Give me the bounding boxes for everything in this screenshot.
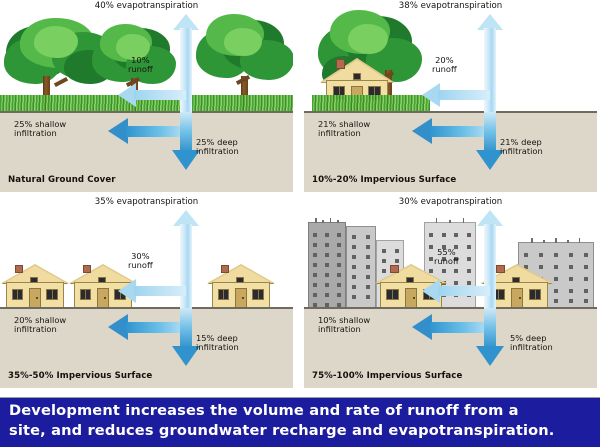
label-shallow-line2: infiltration — [14, 129, 66, 138]
caption-bar: Development increases the volume and rat… — [0, 397, 600, 447]
infographic-root: 40% evapotranspiration 10% runoff 25% sh… — [0, 0, 600, 447]
panel-caption: 10%-20% Impervious Surface — [312, 175, 456, 185]
label-runoff-line2: runoff — [434, 257, 459, 266]
house-door — [29, 288, 41, 308]
house-chimney — [83, 265, 91, 273]
label-deep-infiltration: 15% deep infiltration — [196, 334, 239, 353]
panel-impervious-10-20: 38% evapotranspiration 20% runoff 21% sh… — [304, 0, 597, 192]
label-deep-infiltration: 5% deep infiltration — [510, 334, 553, 353]
panel-natural-ground-cover: 40% evapotranspiration 10% runoff 25% sh… — [0, 0, 293, 192]
house-door — [511, 288, 523, 308]
label-evapotranspiration: 40% evapotranspiration — [95, 2, 198, 12]
runoff-arrow — [422, 83, 490, 107]
label-runoff: 10% runoff — [128, 56, 153, 75]
deep-infiltration-arrow — [476, 308, 504, 366]
label-deep-line2: infiltration — [196, 343, 239, 352]
label-shallow-line2: infiltration — [318, 325, 370, 334]
label-runoff: 30% runoff — [128, 252, 153, 271]
label-shallow-infiltration: 21% shallow infiltration — [318, 120, 370, 139]
panel-impervious-75-100: 30% evapotranspiration 55% runoff 10% sh… — [304, 196, 597, 388]
label-deep-line2: infiltration — [510, 343, 553, 352]
runoff-arrow — [118, 83, 186, 107]
label-deep-infiltration: 21% deep infiltration — [500, 138, 543, 157]
label-runoff-line2: runoff — [128, 65, 153, 74]
label-runoff-line2: runoff — [128, 261, 153, 270]
label-shallow-infiltration: 10% shallow infiltration — [318, 316, 370, 335]
label-deep-line2: infiltration — [196, 147, 239, 156]
label-evapotranspiration: 30% evapotranspiration — [399, 198, 502, 208]
label-runoff: 20% runoff — [432, 56, 457, 75]
house-chimney — [221, 265, 229, 273]
house-window-left — [80, 289, 92, 300]
panel-impervious-35-50: 35% evapotranspiration 30% runoff 20% sh… — [0, 196, 293, 388]
runoff-arrow — [422, 279, 490, 303]
house-window-right — [529, 289, 541, 300]
label-runoff-line2: runoff — [432, 65, 457, 74]
label-shallow-infiltration: 20% shallow infiltration — [14, 316, 66, 335]
label-shallow-line2: infiltration — [14, 325, 66, 334]
house-chimney — [390, 265, 399, 273]
label-runoff: 55% runoff — [434, 248, 459, 267]
label-deep-infiltration: 25% deep infiltration — [196, 138, 239, 157]
house-window-left — [218, 289, 230, 300]
house-chimney — [336, 59, 345, 69]
grass-strip — [312, 95, 430, 111]
house-chimney — [15, 265, 23, 273]
house-door — [235, 288, 247, 308]
caption-line-2: site, and reduces groundwater recharge a… — [9, 422, 555, 439]
label-evapotranspiration: 35% evapotranspiration — [95, 198, 198, 208]
house-window-right — [252, 289, 264, 300]
house-window-right — [46, 289, 58, 300]
label-deep-line2: infiltration — [500, 147, 543, 156]
caption-line-1: Development increases the volume and rat… — [9, 402, 519, 419]
house-window-left — [386, 289, 398, 300]
house-door — [405, 288, 417, 308]
runoff-arrow — [118, 279, 186, 303]
house-3 — [212, 264, 270, 308]
panel-caption: 75%-100% Impervious Surface — [312, 371, 462, 381]
house-gable-window — [353, 73, 360, 79]
house-door — [97, 288, 109, 308]
label-evapotranspiration: 38% evapotranspiration — [399, 2, 502, 12]
house-1 — [6, 264, 64, 308]
panel-caption: 35%-50% Impervious Surface — [8, 371, 152, 381]
house-window-left — [12, 289, 24, 300]
panel-caption: Natural Ground Cover — [8, 175, 116, 185]
label-shallow-line2: infiltration — [318, 129, 370, 138]
building-2 — [346, 226, 376, 308]
label-shallow-infiltration: 25% shallow infiltration — [14, 120, 66, 139]
